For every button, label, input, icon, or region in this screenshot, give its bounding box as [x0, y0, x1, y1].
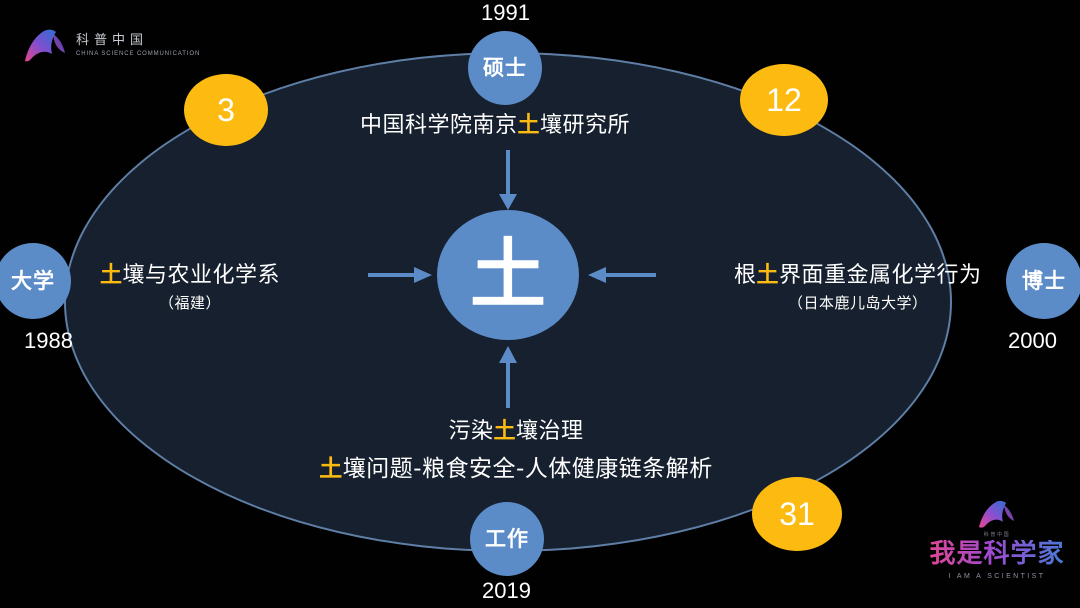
stage-node-university-label: 大学	[11, 270, 55, 293]
year-label-1988: 1988	[24, 328, 73, 354]
logo-china-science-communication: 科普中国 CHINA SCIENCE COMMUNICATION	[22, 28, 200, 64]
description-bottom-line2: 土壤问题-粮食安全-人体健康链条解析	[318, 454, 714, 485]
stage-node-doctor[interactable]: 博士	[1006, 243, 1080, 319]
butterfly-mark-icon	[22, 28, 68, 64]
description-bottom-line1: 污染土壤治理	[318, 418, 714, 446]
arrow-bottom-up	[493, 344, 523, 408]
center-glyph: 土	[470, 237, 546, 313]
description-left-highlight: 土	[100, 263, 123, 288]
logo-br-cn-text: 我是科学家	[922, 540, 1072, 570]
description-left-main: 土壤与农业化学系	[100, 262, 280, 290]
stage-node-master[interactable]: 硕士	[468, 31, 542, 105]
description-top-highlight: 土	[518, 113, 541, 138]
year-label-2000: 2000	[1008, 328, 1057, 354]
logo-en-text: CHINA SCIENCE COMMUNICATION	[76, 51, 200, 58]
stage-node-university[interactable]: 大学	[0, 243, 71, 319]
description-left-post: 壤与农业化学系	[123, 263, 281, 288]
description-left-sub: （福建）	[100, 294, 280, 314]
logo-br-tiny-text: 科普中国	[922, 531, 1072, 538]
stage-node-work-label: 工作	[485, 528, 529, 551]
description-top: 中国科学院南京土壤研究所	[360, 112, 630, 140]
butterfly-mark-small-icon	[977, 500, 1017, 530]
description-right-post: 界面重金属化学行为	[779, 263, 982, 288]
description-right-highlight: 土	[757, 263, 780, 288]
arrow-left-right	[368, 262, 434, 288]
arrow-right-left	[586, 262, 656, 288]
number-bubble-31-value: 31	[779, 498, 815, 530]
number-bubble-3-value: 3	[217, 94, 235, 126]
stage-node-master-label: 硕士	[483, 57, 527, 80]
number-bubble-12[interactable]: 12	[740, 64, 828, 136]
number-bubble-3[interactable]: 3	[184, 74, 268, 146]
center-node-soil: 土	[437, 210, 579, 340]
year-label-1991: 1991	[481, 0, 530, 26]
logo-br-en-text: I AM A SCIENTIST	[922, 573, 1072, 580]
stage-node-work[interactable]: 工作	[470, 502, 544, 576]
description-bottom-line2-post: 壤问题-粮食安全-人体健康链条解析	[343, 456, 713, 482]
description-top-post: 壤研究所	[540, 113, 630, 138]
number-bubble-31[interactable]: 31	[752, 477, 842, 551]
description-right-sub: （日本鹿儿岛大学）	[734, 294, 982, 314]
description-right-main: 根土界面重金属化学行为	[734, 262, 982, 290]
infographic-canvas: 土 硕士 工作 大学 博士 3 12 31 1991 2019 1988 200…	[0, 0, 1080, 608]
description-left: 土壤与农业化学系 （福建）	[100, 262, 280, 313]
arrow-top-down	[493, 150, 523, 212]
description-top-pre: 中国科学院南京	[360, 113, 518, 138]
logo-cn-text: 科普中国	[76, 34, 200, 48]
description-bottom-line2-highlight: 土	[319, 456, 343, 482]
logo-wordmark: 科普中国 CHINA SCIENCE COMMUNICATION	[76, 34, 200, 57]
description-right: 根土界面重金属化学行为 （日本鹿儿岛大学）	[734, 262, 982, 313]
description-top-main: 中国科学院南京土壤研究所	[360, 112, 630, 140]
description-bottom: 污染土壤治理 土壤问题-粮食安全-人体健康链条解析	[318, 418, 714, 485]
description-bottom-line1-post: 壤治理	[516, 419, 584, 444]
description-bottom-line1-pre: 污染	[448, 419, 493, 444]
description-bottom-line1-highlight: 土	[493, 419, 516, 444]
description-right-pre: 根	[734, 263, 757, 288]
stage-node-doctor-label: 博士	[1022, 270, 1066, 293]
year-label-2019: 2019	[482, 578, 531, 604]
logo-i-am-a-scientist: 科普中国 我是科学家 I AM A SCIENTIST	[922, 500, 1072, 580]
number-bubble-12-value: 12	[766, 84, 802, 116]
